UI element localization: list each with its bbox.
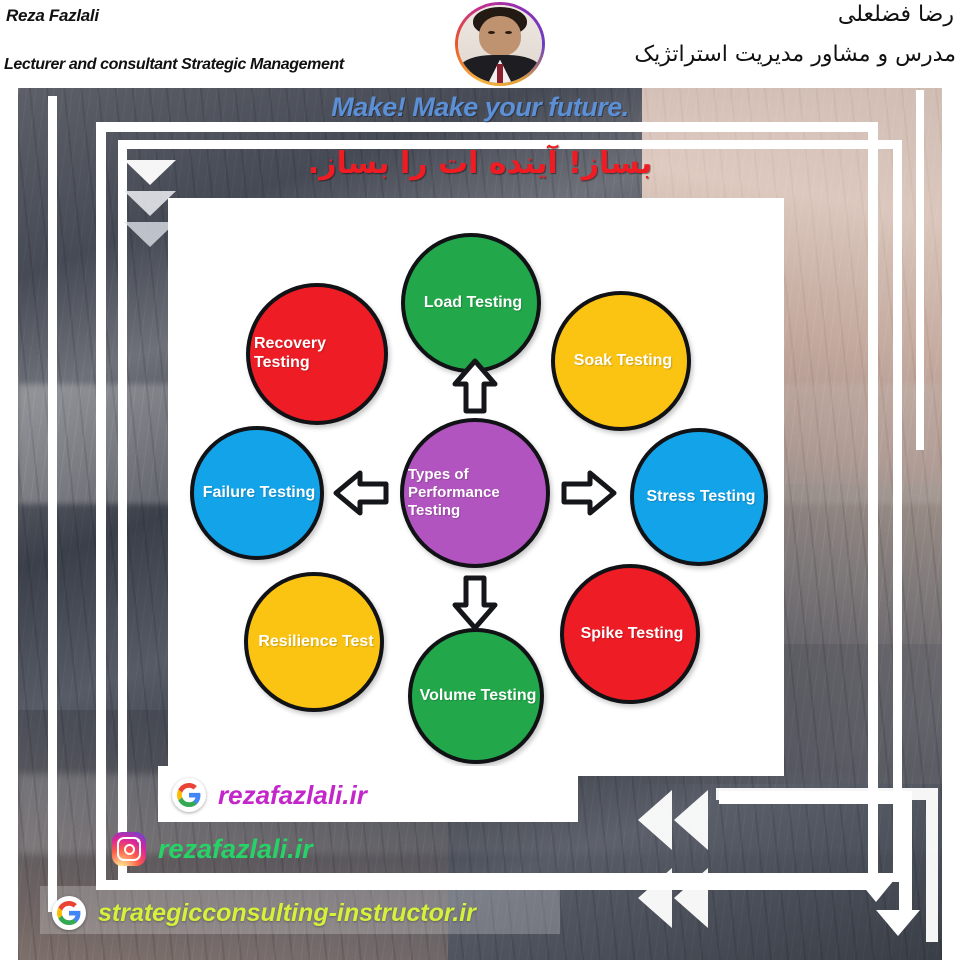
diagram-node-load-testing[interactable]: Load Testing <box>401 233 541 373</box>
link-google-site-1-text: rezafazlali.ir <box>218 780 367 811</box>
link-google-site-2-text: strategicconsulting-instructor.ir <box>98 899 476 928</box>
performance-testing-diagram: Types of Performance Testing Recovery Te… <box>168 198 784 776</box>
diagram-node-spike-testing[interactable]: Spike Testing <box>560 564 700 704</box>
arrow-right-icon <box>560 470 618 516</box>
header-role-english: Lecturer and consultant Strategic Manage… <box>4 56 344 74</box>
link-instagram-text: rezafazlali.ir <box>158 834 313 865</box>
header-banner: Reza Fazlali Lecturer and consultant Str… <box>0 0 960 88</box>
diagram-node-spike-testing-label: Spike Testing <box>577 625 684 644</box>
diagram-node-resilience-test-label: Resilience Test <box>254 633 373 652</box>
arrow-up-icon <box>452 358 498 414</box>
instagram-icon <box>112 832 146 866</box>
chevron-left-icon-4 <box>674 868 708 928</box>
diagram-node-soak-testing-label: Soak Testing <box>570 352 672 371</box>
diagram-node-soak-testing[interactable]: Soak Testing <box>551 291 691 431</box>
arrow-left-icon <box>332 470 390 516</box>
chevron-left-icon-3 <box>638 868 672 928</box>
link-instagram[interactable]: rezafazlali.ir <box>112 832 313 866</box>
google-icon <box>172 778 206 812</box>
link-google-site-1[interactable]: rezafazlali.ir <box>172 778 367 812</box>
diagram-node-failure-testing[interactable]: Failure Testing <box>190 426 324 560</box>
diagram-node-recovery-testing[interactable]: Recovery Testing <box>246 283 388 425</box>
avatar <box>455 2 545 86</box>
header-role-farsi: مدرس و مشاور مدیریت استراتژیک <box>634 42 956 67</box>
chevron-left-stack <box>638 772 938 942</box>
diagram-node-volume-testing-label: Volume Testing <box>416 687 537 706</box>
tagline-farsi: بساز! آینده ات را بساز. <box>0 146 960 181</box>
diagram-node-load-testing-label: Load Testing <box>420 294 522 313</box>
arrow-down-icon <box>452 575 498 631</box>
frame-right-bar <box>916 90 924 450</box>
tagline-english: Make! Make your future. <box>0 92 960 123</box>
header-name-farsi: رضا فضلعلی <box>838 2 954 27</box>
diagram-node-volume-testing[interactable]: Volume Testing <box>408 628 544 764</box>
diagram-node-stress-testing[interactable]: Stress Testing <box>630 428 768 566</box>
link-google-site-2[interactable]: strategicconsulting-instructor.ir <box>52 896 476 930</box>
chevron-left-icon-2 <box>674 790 708 850</box>
chevron-left-icon-1 <box>638 790 672 850</box>
diagram-node-failure-testing-label: Failure Testing <box>199 484 316 503</box>
header-name-english: Reza Fazlali <box>6 6 99 26</box>
diagram-node-center-label: Types of Performance Testing <box>404 466 546 519</box>
diagram-node-recovery-testing-label: Recovery Testing <box>250 335 384 373</box>
google-icon <box>52 896 86 930</box>
diagram-node-resilience-test[interactable]: Resilience Test <box>244 572 384 712</box>
diagram-node-stress-testing-label: Stress Testing <box>642 488 755 507</box>
diagram-node-center[interactable]: Types of Performance Testing <box>400 418 550 568</box>
